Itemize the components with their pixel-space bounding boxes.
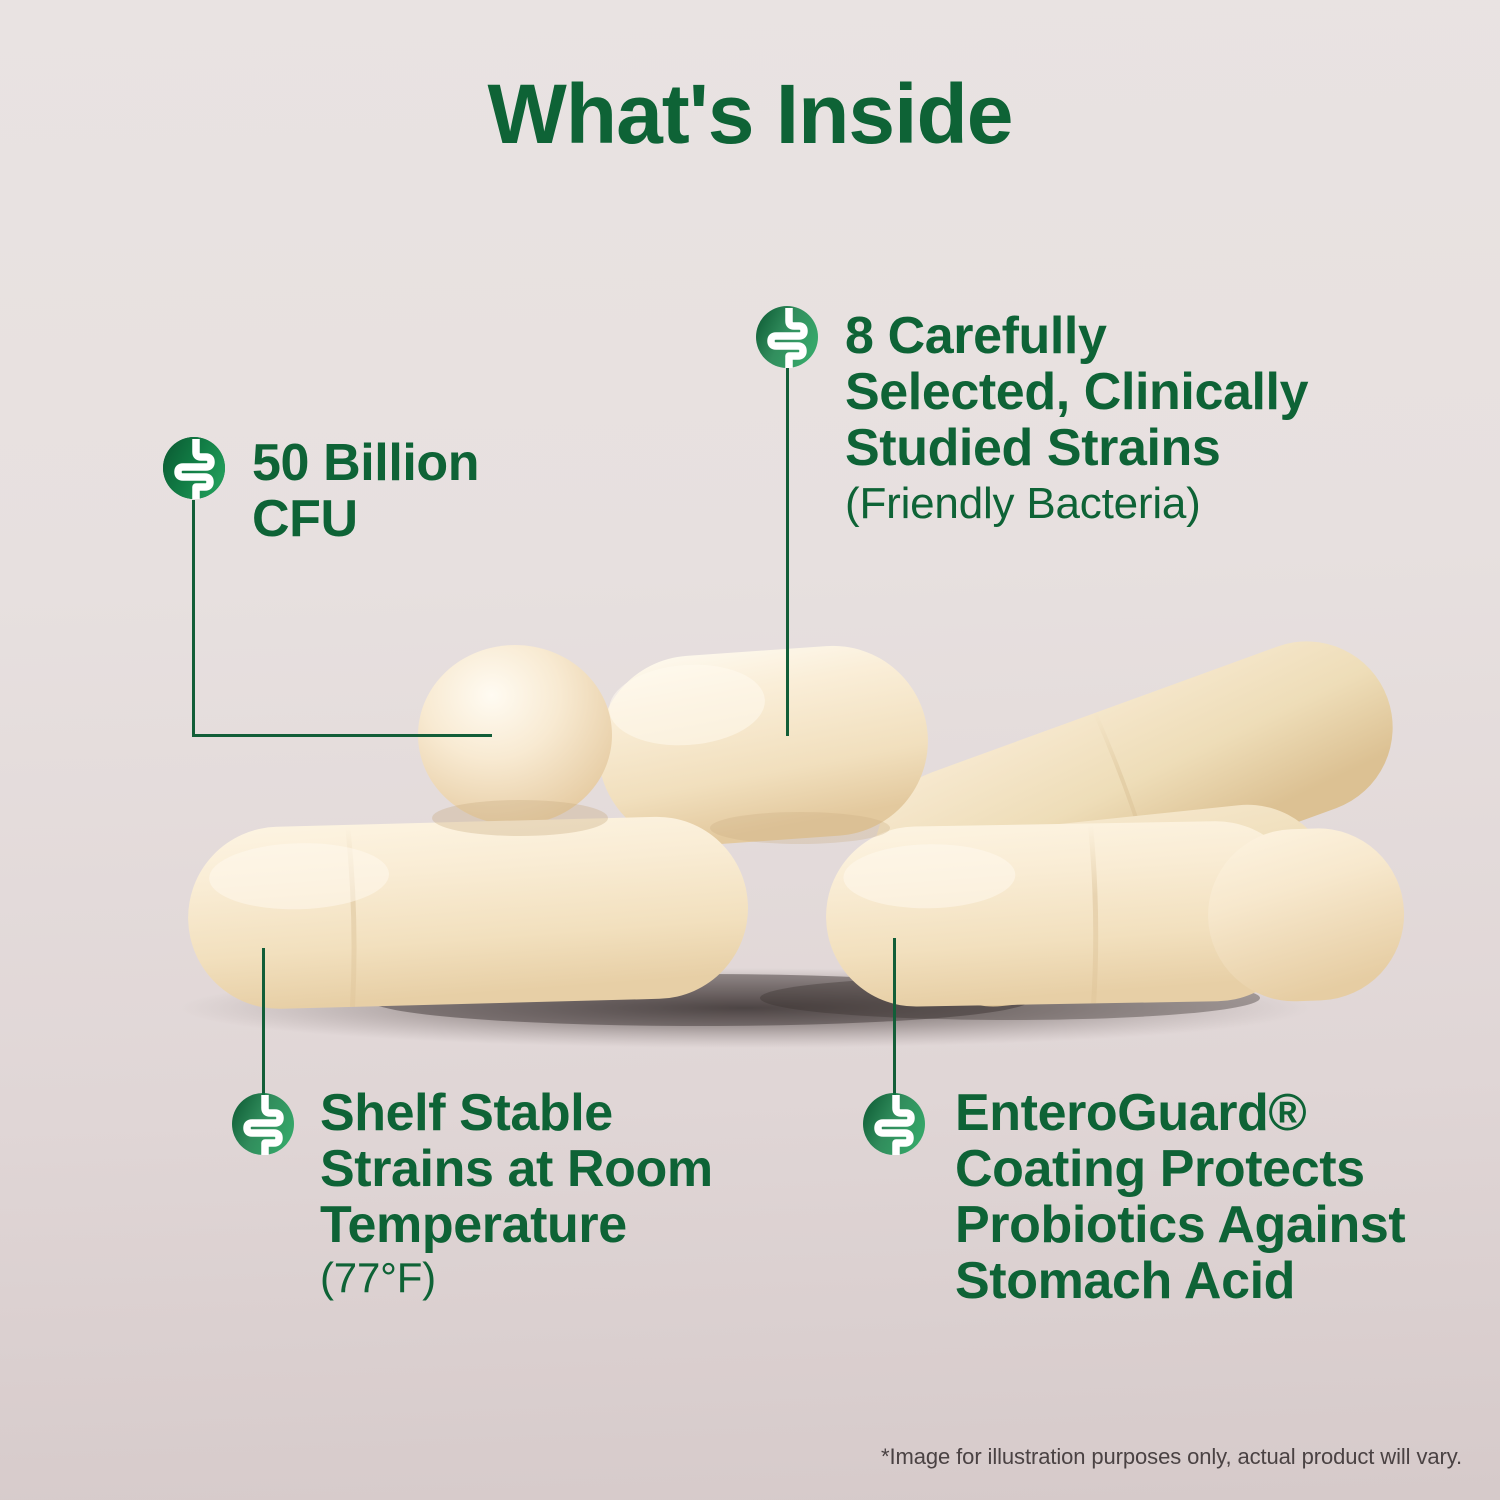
- intestine-icon: [863, 1093, 925, 1155]
- callout-cfu-line2: CFU: [252, 490, 358, 548]
- infographic-canvas: What's Inside: [0, 0, 1500, 1500]
- callout-cfu-line1: 50 Billion: [252, 434, 479, 492]
- callout-shelf-stable-line2: Strains at Room: [320, 1140, 713, 1198]
- callout-strains-line1: 8 Carefully: [845, 307, 1107, 365]
- callout-strains-line3: Studied Strains: [845, 419, 1220, 477]
- intestine-icon: [163, 437, 225, 499]
- callout-enteroguard-text: EnteroGuard® Coating Protects Probiotics…: [955, 1085, 1475, 1310]
- callout-shelf-stable-subtitle: (77°F): [320, 1255, 800, 1300]
- callout-enteroguard-line4: Stomach Acid: [955, 1252, 1295, 1310]
- intestine-icon: [232, 1093, 294, 1155]
- callout-cfu-text: 50 Billion CFU: [252, 435, 672, 547]
- leader-line-cfu-horizontal: [192, 734, 492, 737]
- leader-line-shelf-stable: [262, 948, 265, 1096]
- callout-enteroguard-line1: EnteroGuard®: [955, 1084, 1306, 1142]
- leader-line-cfu-vertical: [192, 500, 195, 737]
- leader-line-enteroguard: [893, 938, 896, 1096]
- callout-shelf-stable-line1: Shelf Stable: [320, 1084, 613, 1142]
- callout-enteroguard-line3: Probiotics Against: [955, 1196, 1405, 1254]
- callout-strains-text: 8 Carefully Selected, Clinically Studied…: [845, 308, 1445, 528]
- leader-line-strains: [786, 368, 789, 736]
- callout-shelf-stable-text: Shelf Stable Strains at Room Temperature…: [320, 1085, 800, 1301]
- disclaimer-footnote: *Image for illustration purposes only, a…: [881, 1444, 1462, 1470]
- intestine-icon: [756, 306, 818, 368]
- callout-strains-subtitle: (Friendly Bacteria): [845, 480, 1445, 528]
- callout-strains-line2: Selected, Clinically: [845, 363, 1308, 421]
- callout-shelf-stable-line3: Temperature: [320, 1196, 627, 1254]
- callout-enteroguard-line2: Coating Protects: [955, 1140, 1365, 1198]
